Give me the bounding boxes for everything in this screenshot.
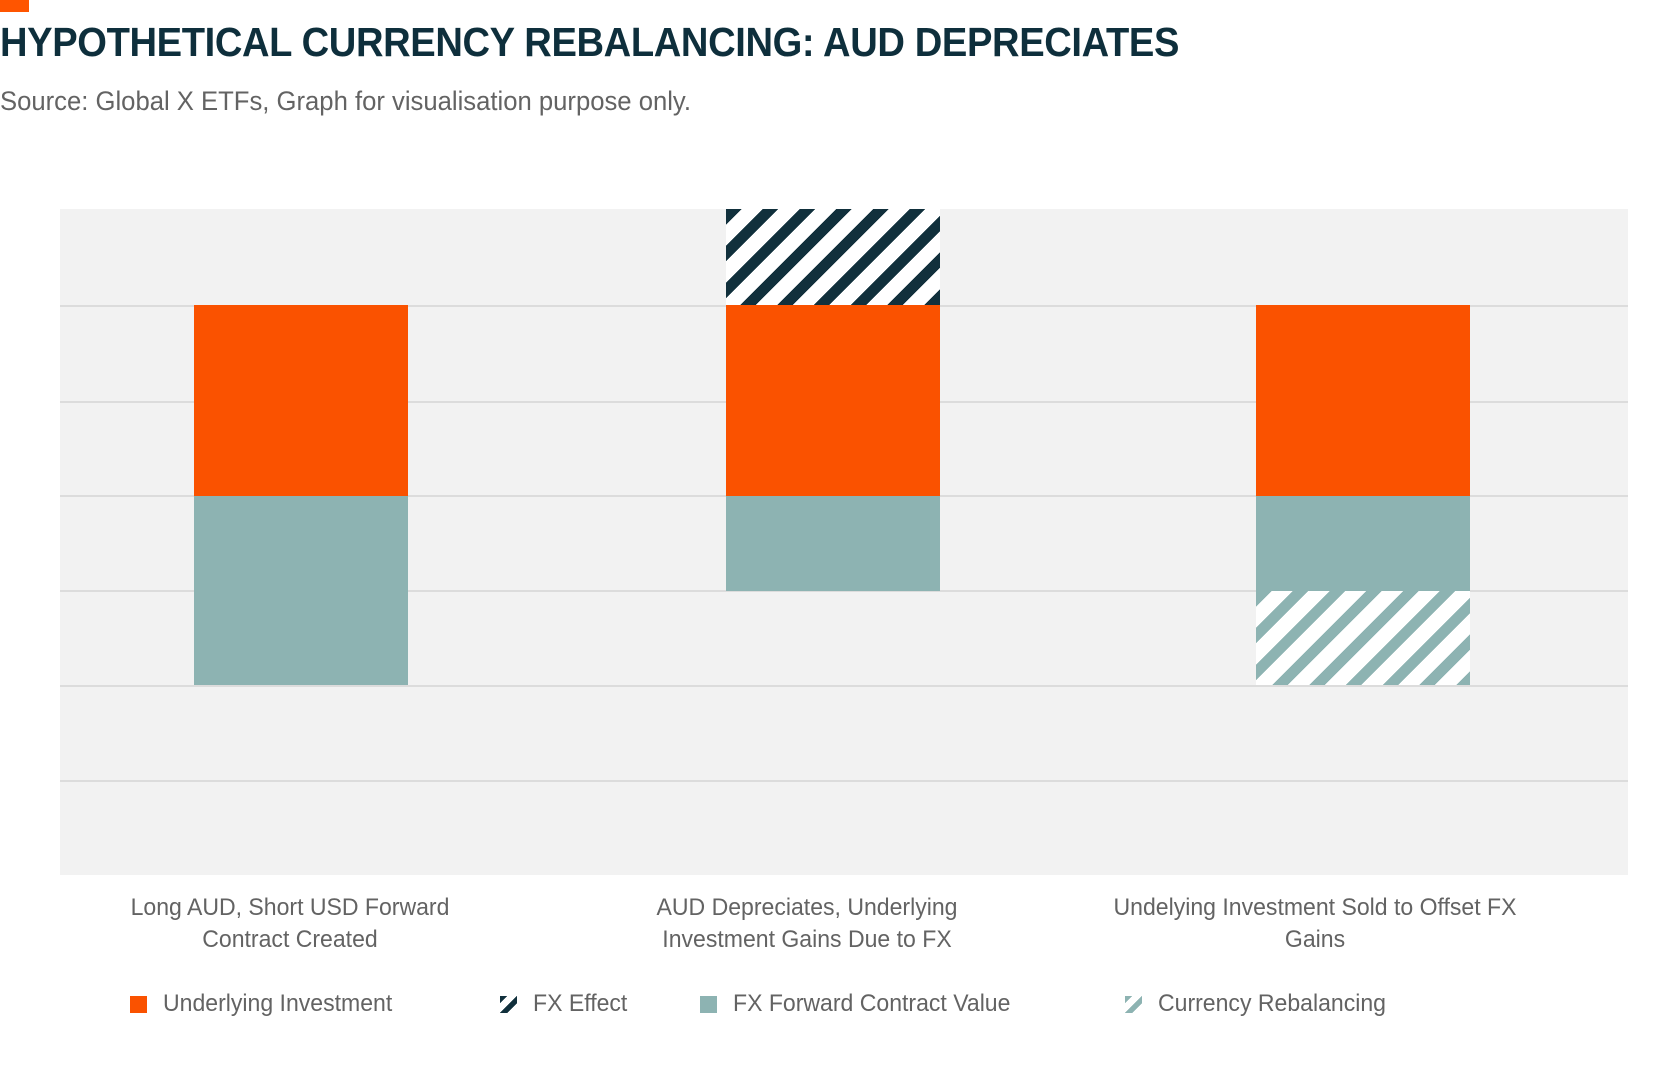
legend-item-fx-forward-contract-value[interactable]: FX Forward Contract Value bbox=[700, 984, 1022, 1024]
source-subtitle: Source: Global X ETFs, Graph for visuali… bbox=[0, 84, 691, 118]
bar-segment-underlying-investment[interactable] bbox=[1256, 305, 1470, 496]
bar-segment-currency-rebalancing[interactable] bbox=[1256, 591, 1470, 685]
page-title: HYPOTHETICAL CURRENCY REBALANCING: AUD D… bbox=[0, 18, 1525, 66]
legend-label: FX Forward Contract Value bbox=[733, 990, 1010, 1018]
chart-plot-area bbox=[60, 209, 1628, 875]
legend-label: Currency Rebalancing bbox=[1158, 990, 1386, 1018]
legend-swatch-hatched-square-icon bbox=[1125, 996, 1142, 1013]
legend-label: Underlying Investment bbox=[163, 990, 392, 1018]
bar-group-1[interactable] bbox=[194, 209, 408, 875]
bar-segment-fx-forward-contract-value[interactable] bbox=[726, 496, 940, 591]
bar-segment-underlying-investment[interactable] bbox=[194, 305, 408, 496]
category-label-1: Long AUD, Short USD Forward Contract Cre… bbox=[88, 892, 491, 956]
bar-segment-fx-forward-contract-value[interactable] bbox=[194, 496, 408, 685]
legend-item-underlying-investment[interactable]: Underlying Investment bbox=[130, 984, 402, 1024]
bar-group-3[interactable] bbox=[1256, 209, 1470, 875]
chart-legend: Underlying Investment FX Effect FX Forwa… bbox=[0, 984, 1667, 1024]
legend-item-fx-effect[interactable]: FX Effect bbox=[500, 984, 631, 1024]
bar-segment-underlying-investment[interactable] bbox=[726, 305, 940, 496]
bar-segment-fx-effect[interactable] bbox=[726, 209, 940, 305]
legend-item-currency-rebalancing[interactable]: Currency Rebalancing bbox=[1125, 984, 1395, 1024]
legend-swatch-solid-square-icon bbox=[130, 996, 147, 1013]
legend-label: FX Effect bbox=[533, 990, 627, 1018]
category-label-2: AUD Depreciates, Underlying Investment G… bbox=[605, 892, 1008, 956]
bar-segment-fx-forward-contract-value[interactable] bbox=[1256, 496, 1470, 591]
legend-swatch-solid-square-icon bbox=[700, 996, 717, 1013]
category-label-3: Undelying Investment Sold to Offset FX G… bbox=[1113, 892, 1516, 956]
legend-swatch-hatched-square-icon bbox=[500, 996, 517, 1013]
bar-group-2[interactable] bbox=[726, 209, 940, 875]
brand-accent-bar bbox=[0, 0, 29, 12]
